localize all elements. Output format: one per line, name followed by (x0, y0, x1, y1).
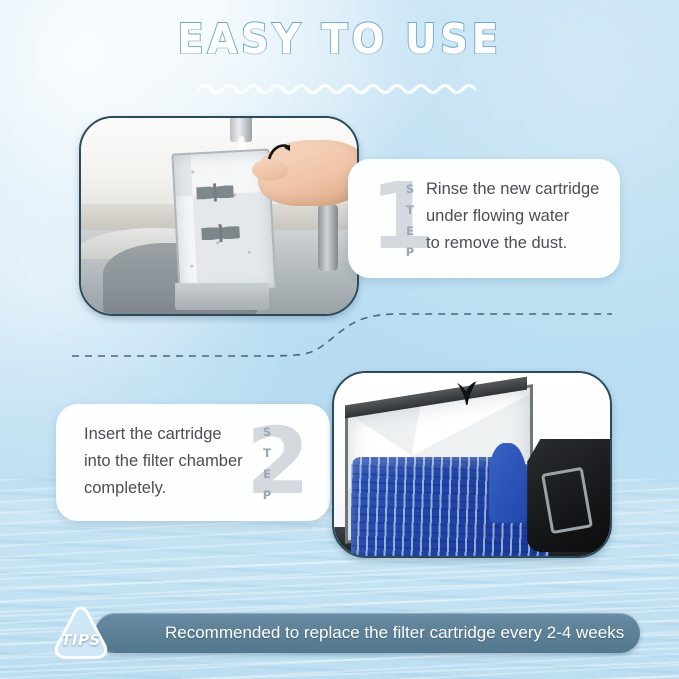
tips-text: Recommended to replace the filter cartri… (165, 623, 624, 643)
step-1-photo (79, 116, 359, 316)
curved-arrow-icon (263, 142, 296, 162)
step-2-number: 2 (246, 416, 310, 508)
infographic-page: EASY TO USE (0, 0, 679, 679)
step-1-number: 1 (370, 171, 434, 263)
dashed-connector-line (60, 300, 620, 370)
step-1-card: 1 S T E P Rinse the new cartridge under … (348, 159, 620, 278)
tips-badge: TIPS (52, 604, 110, 661)
title-wave-underline (197, 80, 483, 94)
step-1-label: S T E P (403, 179, 417, 263)
step-2-photo (332, 371, 612, 558)
page-title-area: EASY TO USE (0, 18, 679, 61)
whale-tail-icon (444, 377, 488, 406)
tips-badge-label: TIPS (52, 631, 110, 649)
step-2-text: Insert the cartridge into the filter cha… (84, 421, 243, 502)
step-2-label: S T E P (260, 422, 274, 506)
tips-bar: Recommended to replace the filter cartri… (95, 613, 640, 653)
step-2-card: 2 S T E P Insert the cartridge into the … (56, 404, 330, 521)
page-title: EASY TO USE (177, 18, 501, 61)
step-1-text: Rinse the new cartridge under flowing wa… (426, 176, 599, 257)
